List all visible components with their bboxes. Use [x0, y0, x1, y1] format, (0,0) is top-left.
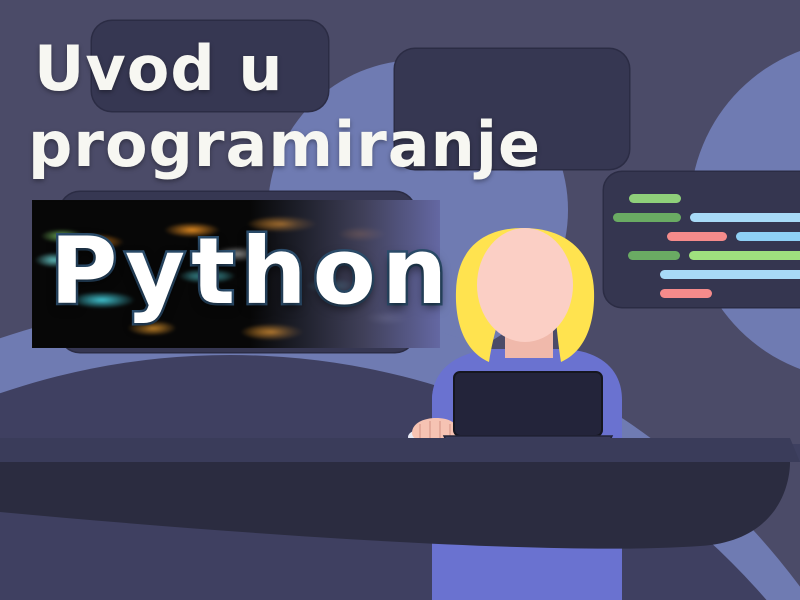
- code-line: [629, 194, 681, 203]
- code-token: [736, 232, 800, 241]
- person-head: [477, 228, 573, 342]
- headline-line-1: Uvod u: [34, 32, 283, 105]
- code-line: [660, 270, 800, 279]
- desk-edge: [0, 438, 800, 462]
- poster-canvas: Uvod u programiranje Python: [0, 0, 800, 600]
- code-line: [628, 251, 800, 260]
- code-token: [660, 289, 712, 298]
- code-token: [689, 251, 800, 260]
- code-line: [613, 213, 800, 222]
- laptop-screen: [454, 372, 602, 436]
- python-wordmark: Python: [50, 218, 453, 325]
- code-token: [629, 194, 681, 203]
- code-snippet-panel: [604, 172, 800, 307]
- code-line: [660, 289, 712, 298]
- code-token: [660, 270, 800, 279]
- code-token: [613, 213, 681, 222]
- code-token: [690, 213, 800, 222]
- code-line: [667, 232, 800, 241]
- code-token: [628, 251, 680, 260]
- desk-body: [0, 462, 790, 549]
- code-token: [667, 232, 727, 241]
- headline-line-2: programiranje: [28, 108, 541, 181]
